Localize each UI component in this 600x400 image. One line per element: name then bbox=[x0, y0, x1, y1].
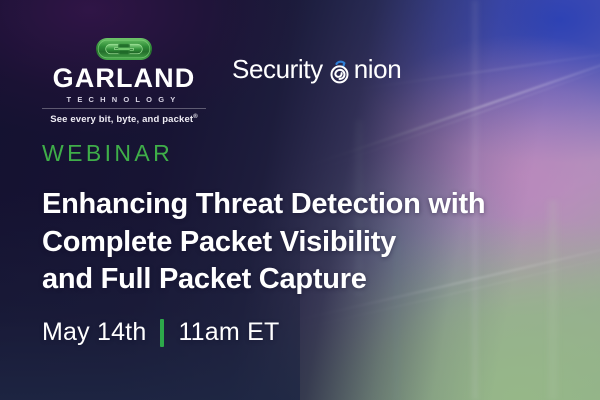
garland-divider-rule bbox=[42, 108, 206, 109]
headline-line-2: Complete Packet Visibility bbox=[42, 224, 572, 262]
garland-tagline: See every bit, byte, and packet® bbox=[50, 114, 198, 125]
headline-line-3: and Full Packet Capture bbox=[42, 261, 572, 299]
security-onion-spiral-icon bbox=[326, 58, 353, 85]
dateline-divider bbox=[160, 319, 164, 347]
security-onion-text-after: nion bbox=[354, 54, 402, 85]
webinar-promo-banner: GARLAND TECHNOLOGY See every bit, byte, … bbox=[0, 0, 600, 400]
event-date: May 14th bbox=[42, 318, 146, 347]
security-onion-text-before: Security bbox=[232, 54, 323, 85]
garland-technology-logo: GARLAND TECHNOLOGY See every bit, byte, … bbox=[40, 36, 208, 125]
headline-line-1: Enhancing Threat Detection with bbox=[42, 186, 572, 224]
security-onion-logo: Security nion bbox=[232, 54, 401, 85]
registered-mark-icon: ® bbox=[193, 114, 198, 120]
garland-chain-link-logo-icon bbox=[95, 36, 153, 62]
webinar-eyebrow-label: WEBINAR bbox=[42, 140, 173, 167]
garland-tagline-text: See every bit, byte, and packet bbox=[50, 114, 193, 125]
event-dateline: May 14th 11am ET bbox=[42, 318, 279, 347]
event-time: 11am ET bbox=[178, 318, 279, 347]
logo-row: GARLAND TECHNOLOGY See every bit, byte, … bbox=[40, 36, 401, 125]
garland-subtitle: TECHNOLOGY bbox=[67, 95, 182, 104]
headline: Enhancing Threat Detection with Complete… bbox=[42, 186, 572, 299]
garland-wordmark: GARLAND bbox=[53, 65, 196, 92]
banner-content: GARLAND TECHNOLOGY See every bit, byte, … bbox=[0, 0, 600, 400]
